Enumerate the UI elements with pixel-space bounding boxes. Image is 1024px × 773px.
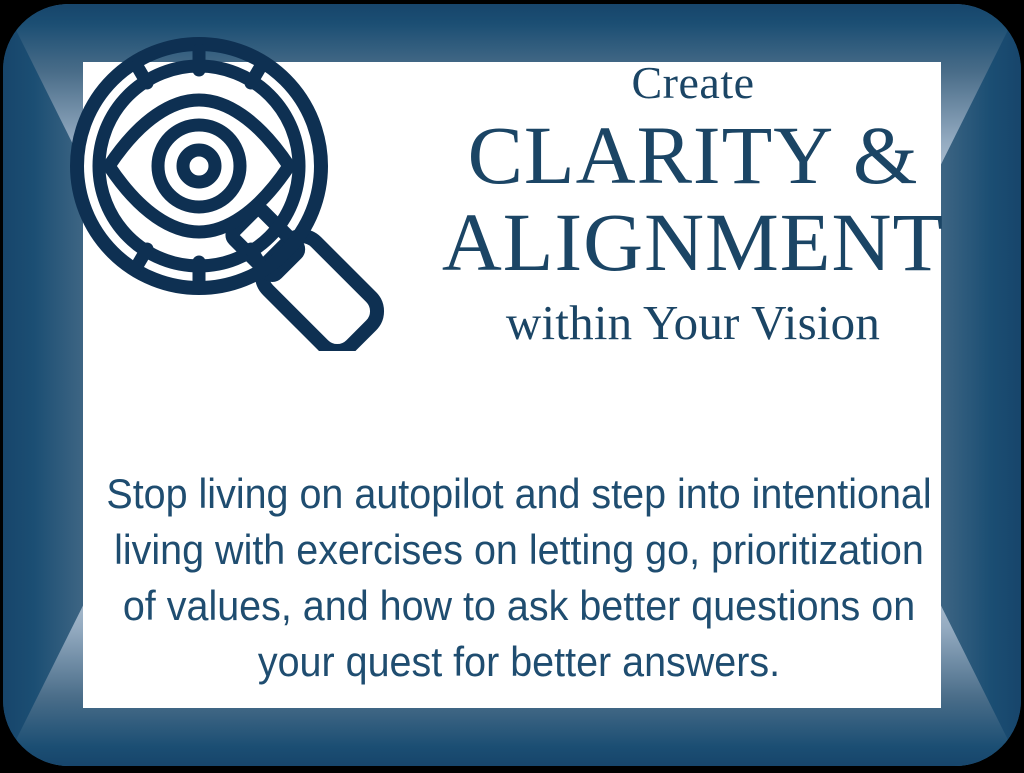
card-stage: Create CLARITY & ALIGNMENT within Your V… <box>0 0 1024 773</box>
headline-main-line-1: CLARITY & <box>433 114 953 197</box>
headline-main-line-2: ALIGNMENT <box>433 201 953 284</box>
card-frame: Create CLARITY & ALIGNMENT within Your V… <box>3 4 1021 766</box>
headline-eyebrow: Create <box>433 60 953 106</box>
body-paragraph: Stop living on autopilot and step into i… <box>102 466 937 689</box>
headline-subtitle: within Your Vision <box>433 298 953 347</box>
magnifying-glass-eye-icon <box>61 26 406 351</box>
card-content: Create CLARITY & ALIGNMENT within Your V… <box>3 4 1021 766</box>
headline-block: Create CLARITY & ALIGNMENT within Your V… <box>433 60 953 347</box>
